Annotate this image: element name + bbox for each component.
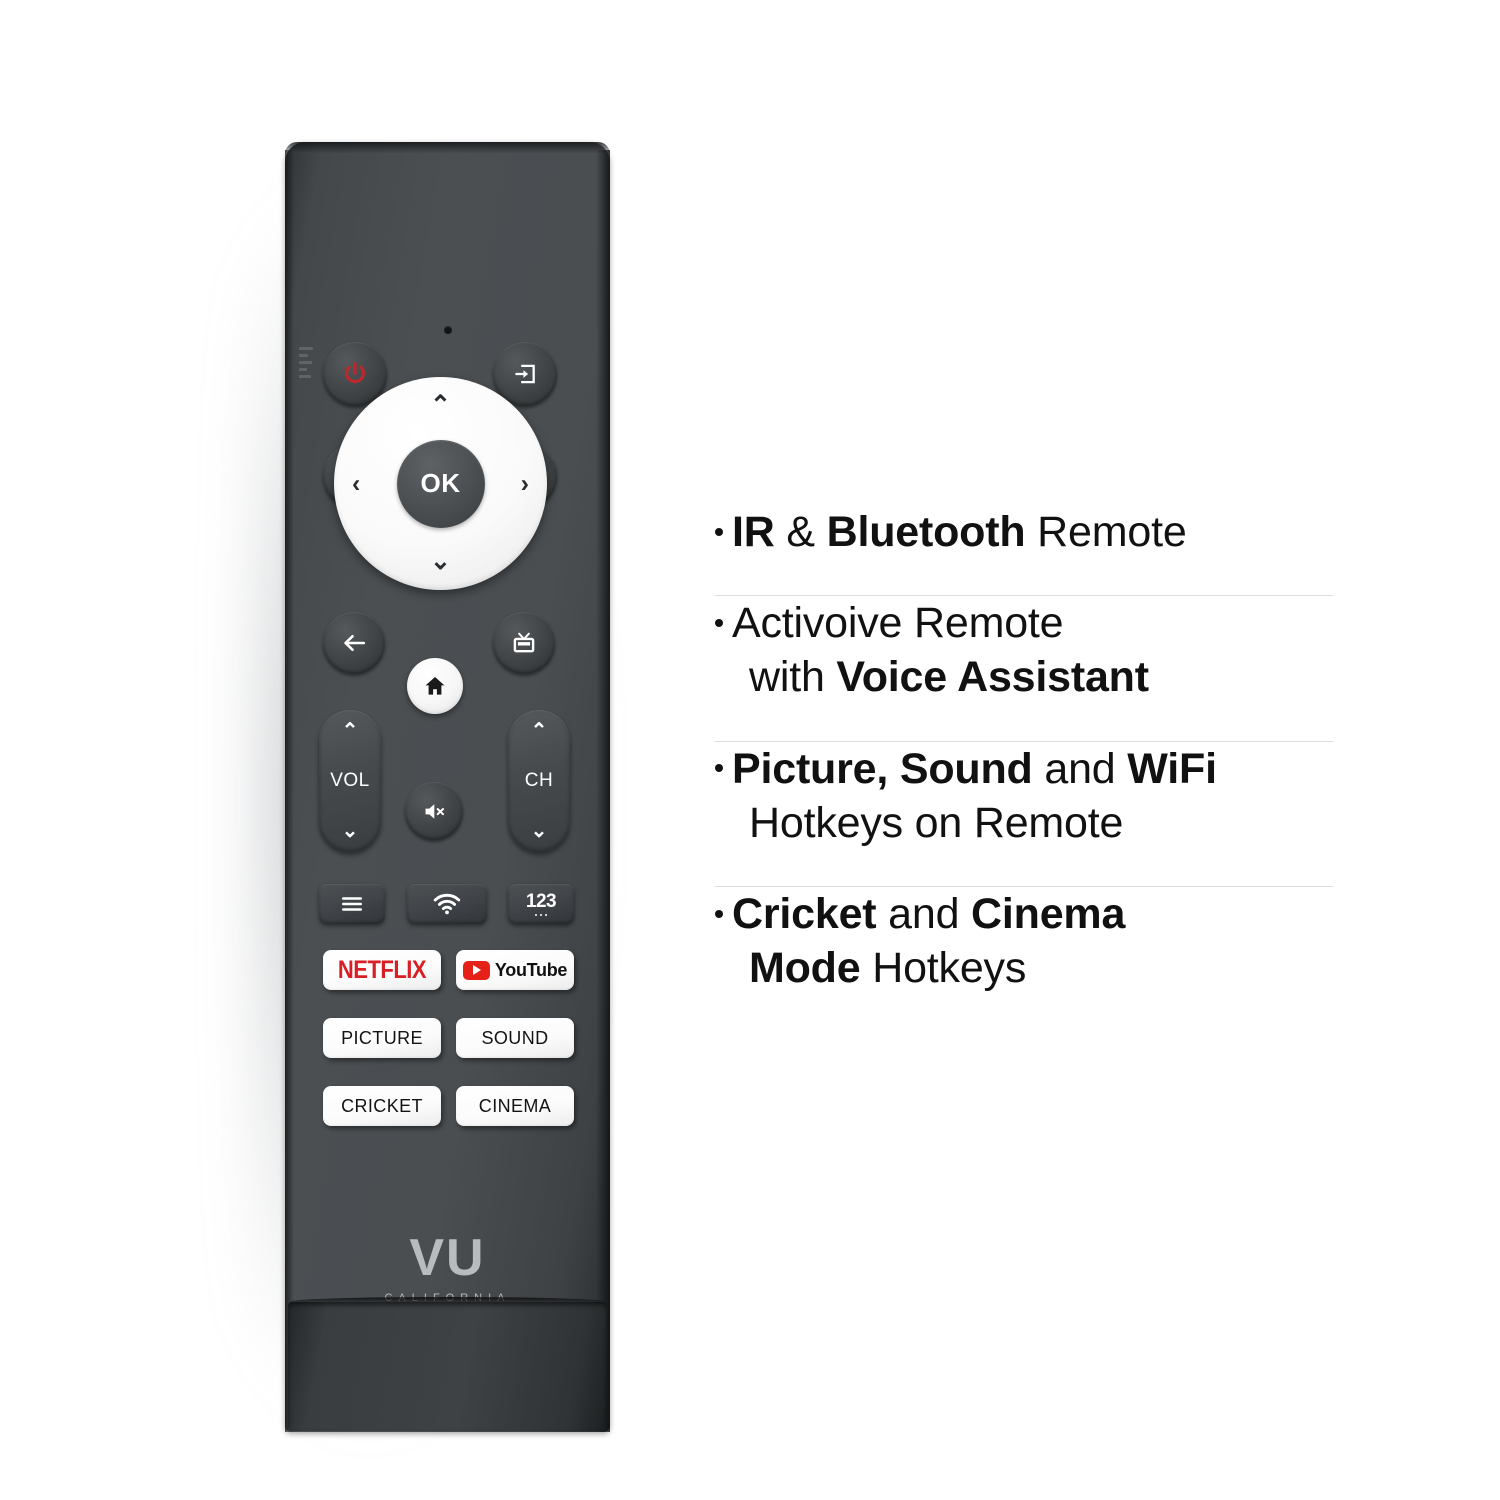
dpad-down-button[interactable]: ⌄ [430, 549, 451, 574]
feature-2-part-0: Picture, Sound [732, 745, 1033, 793]
keypad-button[interactable]: 123 [508, 884, 574, 924]
feature-voice-assistant-text: Activoive Remote with Voice Assistant [715, 596, 1355, 704]
live-tv-button[interactable] [493, 612, 555, 674]
bullet-icon [715, 528, 723, 536]
home-icon [423, 674, 447, 698]
volume-down-button[interactable]: ⌄ [342, 821, 359, 841]
feature-1-line1: Activoive Remote [732, 599, 1063, 647]
power-icon [341, 360, 369, 388]
back-button[interactable] [323, 612, 385, 674]
feature-3-part-3: Mode [749, 944, 860, 992]
youtube-label: YouTube [495, 960, 567, 981]
sound-mode-button[interactable]: SOUND [456, 1018, 574, 1058]
feature-0-part-2: Bluetooth [827, 508, 1026, 556]
feature-1-part-0: with [749, 653, 836, 701]
dpad-left-button[interactable]: ‹ [352, 471, 360, 496]
feature-3-part-2: Cinema [971, 890, 1125, 938]
spacer [715, 856, 1355, 886]
feature-2-line2: Hotkeys on Remote [715, 796, 1355, 850]
brand-logo: VU CALIFORNIA [285, 1232, 610, 1304]
vu-wordmark: VU [409, 1232, 485, 1284]
spacer [715, 565, 1355, 595]
ok-button[interactable]: OK [397, 440, 485, 528]
feature-1-line2: with Voice Assistant [715, 650, 1355, 704]
wifi-icon [433, 893, 461, 915]
home-button[interactable] [407, 658, 463, 714]
feature-hotkeys: Picture, Sound and WiFi Hotkeys on Remot… [715, 742, 1355, 856]
volume-rocker[interactable]: ⌃ VOL ⌄ [319, 710, 381, 852]
cricket-mode-button[interactable]: CRICKET [323, 1086, 441, 1126]
menu-button[interactable] [319, 884, 385, 924]
feature-1-part-1: Voice Assistant [836, 653, 1148, 701]
keypad-label: 123 [526, 892, 556, 911]
picture-mode-button[interactable]: PICTURE [323, 1018, 441, 1058]
numeric-keypad-icon: 123 [526, 892, 556, 917]
remote-illustration: ⌃ ‹ › ⌄ OK [0, 0, 700, 1500]
dpad-up-button[interactable]: ⌃ [430, 393, 451, 418]
dpad[interactable]: ⌃ ‹ › ⌄ OK [334, 377, 547, 590]
bullet-icon [715, 619, 723, 627]
feature-0-part-3: Remote [1025, 508, 1186, 556]
bullet-icon [715, 910, 723, 918]
feature-3-line2: Mode Hotkeys [715, 941, 1355, 995]
feature-2-part-1: and [1033, 745, 1128, 793]
youtube-play-icon [463, 961, 490, 980]
channel-up-button[interactable]: ⌃ [531, 721, 548, 741]
feature-3-part-4: Hotkeys [860, 944, 1026, 992]
sound-label: SOUND [481, 1028, 548, 1049]
feature-mode-hotkeys: Cricket and Cinema Mode Hotkeys [715, 887, 1355, 1001]
battery-cover [288, 1302, 607, 1431]
feature-2-part-2: WiFi [1127, 745, 1217, 793]
tv-icon [511, 630, 537, 656]
back-arrow-icon [341, 630, 367, 656]
feature-ir-bluetooth: IR & Bluetooth Remote [715, 505, 1355, 565]
channel-down-button[interactable]: ⌄ [531, 821, 548, 841]
volume-up-button[interactable]: ⌃ [342, 721, 359, 741]
feature-0-part-1: & [775, 508, 827, 556]
feature-0-part-0: IR [732, 508, 775, 556]
channel-label: CH [525, 770, 553, 792]
feature-list: IR & Bluetooth Remote Activoive Remote w… [715, 505, 1355, 1001]
feature-ir-bluetooth-text: IR & Bluetooth Remote [715, 505, 1355, 559]
remote-top-bevel [285, 142, 610, 154]
netflix-button[interactable]: NETFLIX [323, 950, 441, 990]
feature-voice-assistant: Activoive Remote with Voice Assistant [715, 596, 1355, 710]
picture-label: PICTURE [341, 1028, 423, 1049]
feature-3-part-0: Cricket [732, 890, 876, 938]
input-source-icon [512, 361, 538, 387]
youtube-button[interactable]: YouTube [456, 950, 574, 990]
wifi-button[interactable] [407, 884, 487, 924]
netflix-label: NETFLIX [338, 955, 426, 984]
feature-hotkeys-text: Picture, Sound and WiFi Hotkeys on Remot… [715, 742, 1355, 850]
spacer [715, 711, 1355, 741]
cinema-mode-button[interactable]: CINEMA [456, 1086, 574, 1126]
volume-label: VOL [330, 770, 370, 792]
ir-led-icon [444, 326, 452, 334]
youtube-logo: YouTube [463, 960, 567, 981]
cricket-label: CRICKET [341, 1096, 423, 1117]
mute-speaker-icon [422, 799, 447, 824]
hamburger-menu-icon [340, 895, 364, 913]
mute-button[interactable] [405, 782, 463, 840]
feature-mode-hotkeys-text: Cricket and Cinema Mode Hotkeys [715, 887, 1355, 995]
remote-body: ⌃ ‹ › ⌄ OK [285, 142, 610, 1432]
dpad-right-button[interactable]: › [521, 471, 529, 496]
channel-rocker[interactable]: ⌃ CH ⌄ [508, 710, 570, 852]
keypad-dots [535, 914, 548, 917]
feature-3-part-1: and [876, 890, 971, 938]
bullet-icon [715, 764, 723, 772]
cinema-label: CINEMA [479, 1096, 551, 1117]
